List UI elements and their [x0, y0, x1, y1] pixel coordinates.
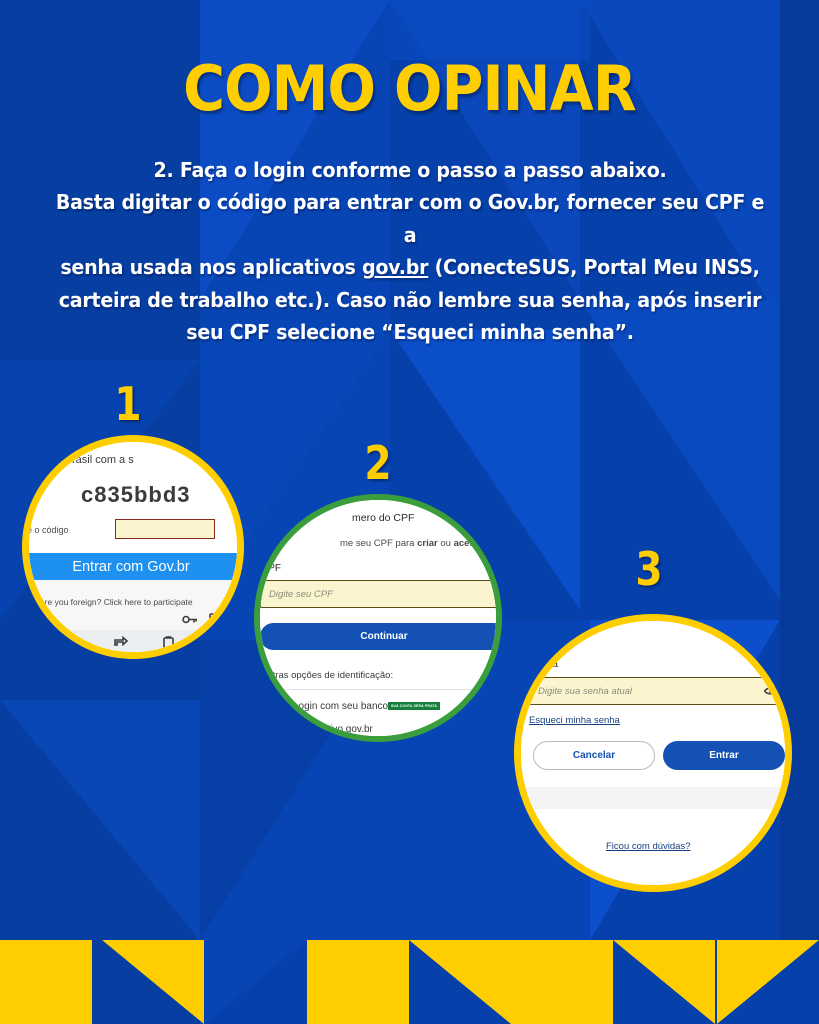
- step1-system-bar: [29, 630, 237, 652]
- band-square: [0, 940, 92, 1024]
- step3-password-input[interactable]: Digite sua senha atual: [529, 677, 785, 705]
- step-3-screenshot: Senha Digite sua senha atual Esqueci min…: [514, 614, 792, 892]
- header: COMO OPINAR 2. Faça o login conforme o p…: [0, 0, 819, 348]
- step2-desc-a: me seu CPF para: [340, 538, 417, 549]
- band-triangle: [102, 940, 204, 1024]
- band-triangle: [205, 940, 307, 1024]
- band-triangle: [717, 940, 819, 1024]
- band-triangle: [409, 940, 511, 1024]
- step2-desc-bold-criar: criar: [417, 538, 438, 549]
- step2-continue-button[interactable]: Continuar: [260, 623, 496, 650]
- share-icon[interactable]: [114, 636, 128, 648]
- step3-submit-button[interactable]: Entrar: [663, 741, 785, 770]
- page-title: COMO OPINAR: [33, 58, 786, 120]
- step-2-screenshot: mero do CPF me seu CPF para criar ou ace…: [254, 494, 502, 742]
- page-subtitle: 2. Faça o login conforme o passo a passo…: [51, 154, 767, 348]
- step1-code-input[interactable]: [115, 519, 215, 539]
- step2-cpf-input[interactable]: Digite seu CPF: [260, 580, 496, 608]
- subtitle-line-3-a: senha usada nos aplicativos: [60, 255, 362, 279]
- step2-cpf-label: CPF: [261, 563, 281, 574]
- step1-foreign-link[interactable]: Are you foreign? Click here to participa…: [39, 597, 193, 607]
- subtitle-line-2: Basta digitar o código para entrar com o…: [51, 186, 767, 251]
- subtitle-line-5: seu CPF selecione “Esqueci minha senha”.: [51, 316, 767, 348]
- step2-bank-badge: SUA CONTA SERÁ PRATA: [388, 702, 440, 710]
- step3-spacer: [521, 787, 785, 809]
- step-1-screenshot: a + Brasil com a s c835bbd3 Digite o cód…: [22, 435, 244, 659]
- clipboard-icon[interactable]: [163, 636, 174, 649]
- key-icon[interactable]: [182, 614, 198, 625]
- subtitle-line-1: 2. Faça o login conforme o passo a passo…: [51, 154, 767, 186]
- step2-description: me seu CPF para criar ou acessar sua con…: [340, 538, 496, 549]
- step2-other-options-label: Outras opções de identificação:: [260, 670, 393, 681]
- step2-bank-login-label[interactable]: Login com seu banco: [293, 701, 388, 712]
- step2-desc-b: sua conta gov: [489, 538, 496, 549]
- step2-app-option[interactable]: u aplicativo gov.br: [293, 724, 373, 735]
- step3-password-label: Senha: [529, 659, 558, 670]
- bank-shield-icon: [267, 700, 280, 713]
- credit-card-icon[interactable]: [209, 613, 224, 625]
- step2-divider: [260, 689, 496, 690]
- eye-icon[interactable]: [764, 686, 778, 696]
- step1-code-label: Digite o código: [29, 525, 69, 535]
- band-square: [307, 940, 409, 1024]
- step2-desc-bold-acessar: acessar: [454, 538, 489, 549]
- step3-help-link[interactable]: Ficou com dúvidas?: [606, 841, 690, 852]
- footer-pattern-band: [0, 940, 819, 1024]
- step-number-2: 2: [364, 440, 391, 486]
- step3-forgot-password-link[interactable]: Esqueci minha senha: [529, 715, 620, 726]
- band-triangle: [613, 940, 715, 1024]
- subtitle-line-3: senha usada nos aplicativos gov.br (Cone…: [51, 251, 767, 283]
- band-square: [511, 940, 613, 1024]
- govbr-link[interactable]: gov.br: [361, 255, 427, 279]
- step2-partial-heading: mero do CPF: [352, 512, 414, 524]
- step2-desc-mid: ou: [438, 538, 454, 549]
- step1-access-code: c835bbd3: [81, 482, 191, 508]
- step1-login-button[interactable]: Entrar com Gov.br: [29, 553, 237, 580]
- subtitle-line-4: carteira de trabalho etc.). Caso não lem…: [51, 284, 767, 316]
- step1-partial-heading: a + Brasil com a s: [46, 454, 134, 466]
- step3-cancel-button[interactable]: Cancelar: [533, 741, 655, 770]
- step-number-1: 1: [114, 381, 141, 427]
- subtitle-line-3-b: (ConecteSUS, Portal Meu INSS,: [428, 255, 759, 279]
- step-number-3: 3: [635, 546, 662, 592]
